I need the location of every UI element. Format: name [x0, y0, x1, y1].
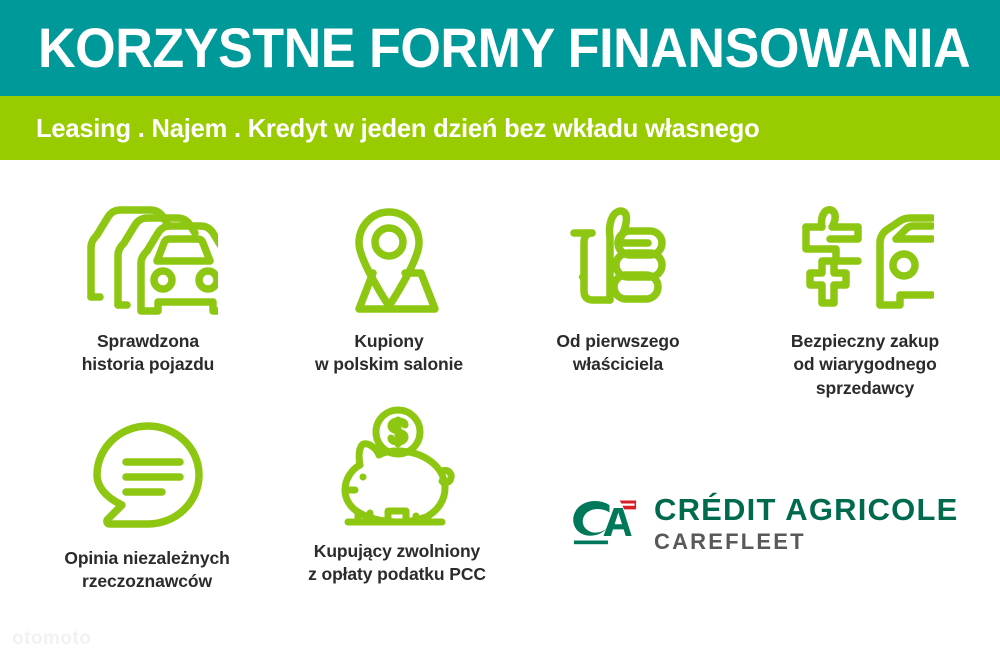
subheadline-band: Leasing . Najem . Kredyt w jeden dzień b…: [0, 96, 1000, 160]
infographic-banner: KORZYSTNE FORMY FINANSOWANIA Leasing . N…: [0, 0, 1000, 654]
feature-caption: Od pierwszego właściciela: [518, 330, 718, 377]
brand-name: CRÉDIT AGRICOLE: [654, 494, 958, 527]
credit-agricole-logo: CRÉDIT AGRICOLE CAREFLEET: [568, 494, 956, 560]
piggy-bank-icon: [272, 408, 522, 528]
credit-agricole-wordmark: CRÉDIT AGRICOLE CAREFLEET: [654, 494, 958, 554]
feature-caption: Bezpieczny zakup od wiarygodnego sprzeda…: [738, 330, 992, 400]
feature-caption: Kupiony w polskim salonie: [280, 330, 498, 377]
feature-item-pcc-tax-exempt: Kupujący zwolniony z opłaty podatku PCC: [272, 408, 522, 587]
feature-item-polish-dealership: Kupiony w polskim salonie: [280, 198, 498, 377]
feature-item-first-owner: Od pierwszego właściciela: [518, 198, 718, 377]
feature-item-trusted-seller: Bezpieczny zakup od wiarygodnego sprzeda…: [738, 198, 992, 400]
speech-bubble-icon: [22, 415, 272, 535]
map-pin-icon: [280, 198, 498, 318]
feature-item-vehicle-history: Sprawdzona historia pojazdu: [38, 198, 258, 377]
headline-band: KORZYSTNE FORMY FINANSOWANIA: [0, 0, 1000, 96]
handshake-car-icon: [738, 198, 992, 318]
page-title: KORZYSTNE FORMY FINANSOWANIA: [38, 20, 970, 76]
feature-caption: Sprawdzona historia pojazdu: [38, 330, 258, 377]
page-subtitle: Leasing . Najem . Kredyt w jeden dzień b…: [36, 115, 759, 141]
stacked-cars-icon: [38, 198, 258, 318]
feature-caption: Kupujący zwolniony z opłaty podatku PCC: [272, 540, 522, 587]
thumbs-up-icon: [518, 198, 718, 318]
feature-item-expert-opinion: Opinia niezależnych rzeczoznawców: [22, 415, 272, 594]
watermark: otomoto: [12, 628, 91, 650]
credit-agricole-ca-monogram: [568, 496, 642, 548]
brand-subname: CAREFLEET: [654, 530, 958, 554]
feature-caption: Opinia niezależnych rzeczoznawców: [22, 547, 272, 594]
